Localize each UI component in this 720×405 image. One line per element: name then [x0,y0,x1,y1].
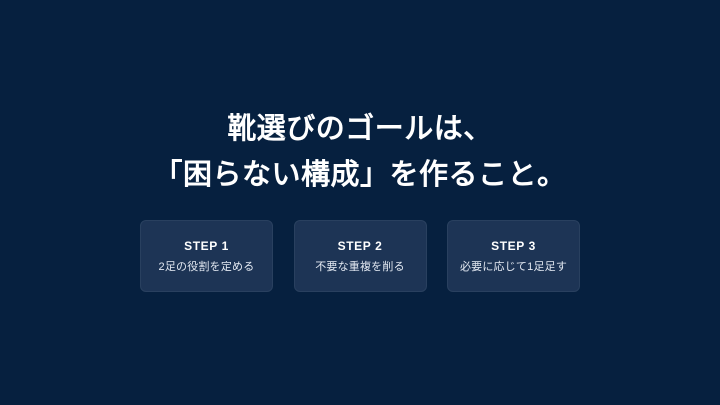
step-description-2: 不要な重複を削る [315,260,405,274]
step-label-3: STEP 3 [491,239,536,253]
step-card-2: STEP 2 不要な重複を削る [294,220,427,292]
step-description-1: 2足の役割を定める [159,260,255,274]
step-description-3: 必要に応じて1足足す [460,260,567,274]
step-card-3: STEP 3 必要に応じて1足足す [447,220,580,292]
step-label-2: STEP 2 [338,239,383,253]
step-card-1: STEP 1 2足の役割を定める [140,220,273,292]
step-label-1: STEP 1 [184,239,229,253]
step-card-group: STEP 1 2足の役割を定める STEP 2 不要な重複を削る STEP 3 … [140,220,580,292]
headline-line-1: 靴選びのゴールは、 [0,106,720,152]
slide-root: 靴選びのゴールは、 「困らない構成」を作ること。 STEP 1 2足の役割を定め… [0,0,720,405]
page-title: 靴選びのゴールは、 「困らない構成」を作ること。 [0,106,720,198]
headline-line-2: 「困らない構成」を作ること。 [0,152,720,198]
